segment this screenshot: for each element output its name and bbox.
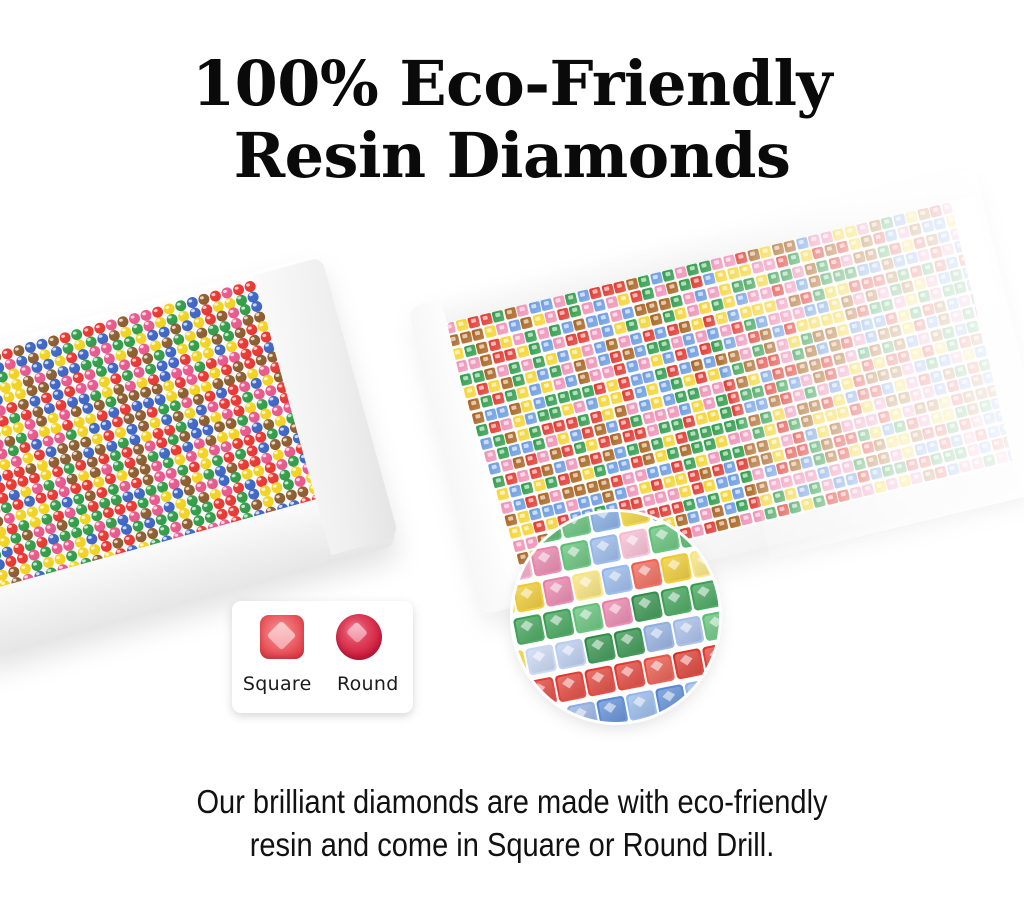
caption-line-2: resin and come in Square or Round Drill.	[61, 823, 962, 866]
drill-type-legend[interactable]: Square Round	[232, 601, 413, 713]
legend-labels: Square Round	[232, 667, 413, 701]
legend-label-round: Round	[323, 673, 414, 695]
square-drill-facet	[267, 621, 297, 651]
round-drill-icon	[336, 614, 382, 660]
round-drill-facet	[346, 622, 368, 644]
square-drill-icon	[260, 615, 304, 659]
page-title: 100% Eco-Friendly Resin Diamonds	[0, 48, 1024, 192]
page-caption: Our brilliant diamonds are made with eco…	[61, 780, 962, 866]
headline-line-1: 100% Eco-Friendly	[0, 48, 1024, 120]
round-drill-tray	[0, 268, 392, 640]
poster-canvas: 100% Eco-Friendly Resin Diamonds	[0, 0, 1024, 923]
magnifier-inset	[513, 512, 719, 722]
legend-label-square: Square	[232, 673, 323, 695]
caption-line-1: Our brilliant diamonds are made with eco…	[61, 780, 962, 823]
magnified-drill-rows	[513, 512, 719, 722]
legend-gem-row	[232, 613, 413, 665]
